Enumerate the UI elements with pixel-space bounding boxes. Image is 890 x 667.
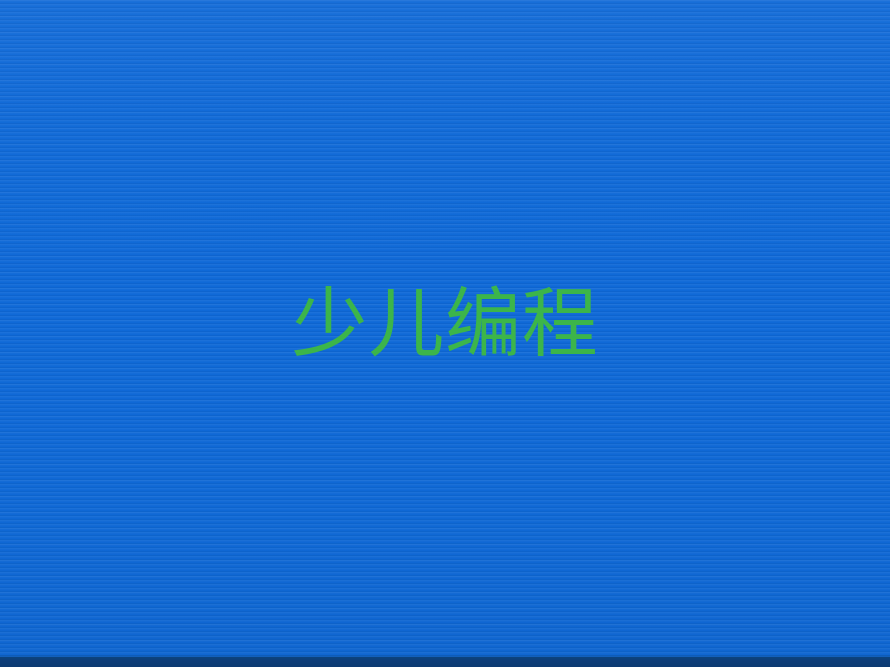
- slide-title: 少儿编程: [291, 286, 598, 362]
- slide-canvas: 少儿编程: [0, 0, 890, 667]
- footer-band: [0, 657, 890, 667]
- headline-container: 少儿编程: [0, 0, 890, 657]
